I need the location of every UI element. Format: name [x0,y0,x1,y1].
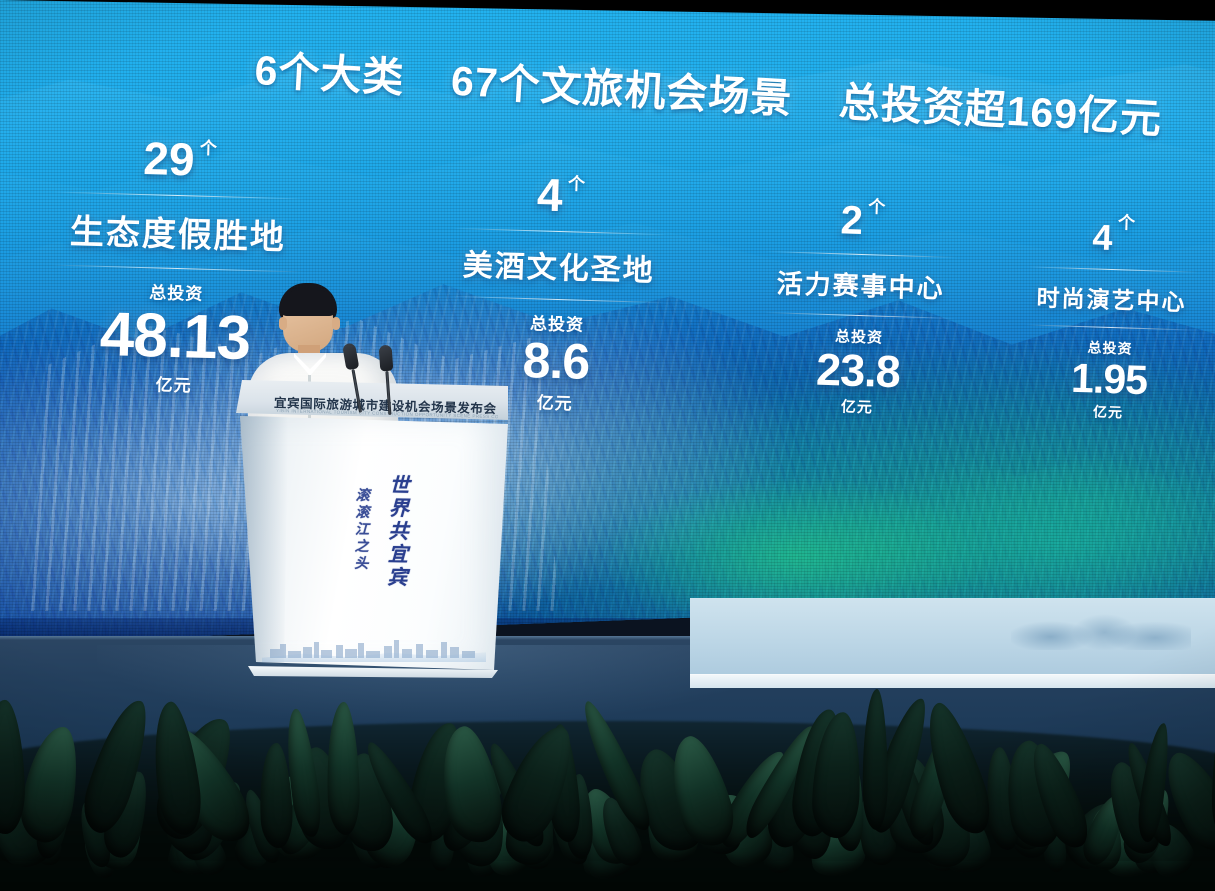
stat-category: 美酒文化圣地 [440,229,678,303]
podium-calligraphy: 滚滚江之头 世界共宜宾 [349,473,608,593]
headline-part-1: 6个大类 [253,36,406,104]
stat-count: 29 [143,132,196,185]
stat-amount: 23.8 [753,344,962,398]
microphone-stem [385,371,391,415]
stat-count-row: 29个 [38,132,321,186]
speaker-ear-right [332,317,340,330]
stat-count-unit: 个 [1118,213,1136,233]
stat-count-unit: 个 [568,174,586,193]
stat-count-unit: 个 [200,139,218,158]
stat-count: 4 [1092,216,1113,258]
stat-category: 时尚演艺中心 [1018,267,1206,330]
stat-block-performance-center: 4个 时尚演艺中心 总投资 1.95 亿元 [1015,211,1207,425]
speaker-hair-front [280,290,336,316]
plant-leaf [324,702,360,836]
stat-category: 生态度假胜地 [36,192,320,272]
stat-count: 2 [840,198,864,243]
microphone-head [379,345,394,372]
podium-calligraphy-main: 世界共宜宾 [381,474,412,590]
stat-count-unit: 个 [868,197,886,217]
stat-amount: 1.95 [1015,355,1202,404]
speaker-ear-left [279,317,287,330]
stat-count-row: 4个 [442,169,679,222]
microphone-stem [351,369,362,413]
stat-category: 活力赛事中心 [756,252,966,319]
foreground-plants [0,601,1215,861]
podium-calligraphy-sub: 滚滚江之头 [349,487,371,588]
stat-count: 4 [536,168,563,221]
stat-count-row: 4个 [1020,211,1207,259]
stat-block-sports-center: 2个 活力赛事中心 总投资 23.8 亿元 [753,195,968,420]
stage-scene: 6个大类 67个文旅机会场景 总投资超169亿元 29个 生态度假胜地 总投资 … [0,0,1215,861]
stat-count-row: 2个 [758,195,967,245]
plant-leaf [862,689,888,831]
